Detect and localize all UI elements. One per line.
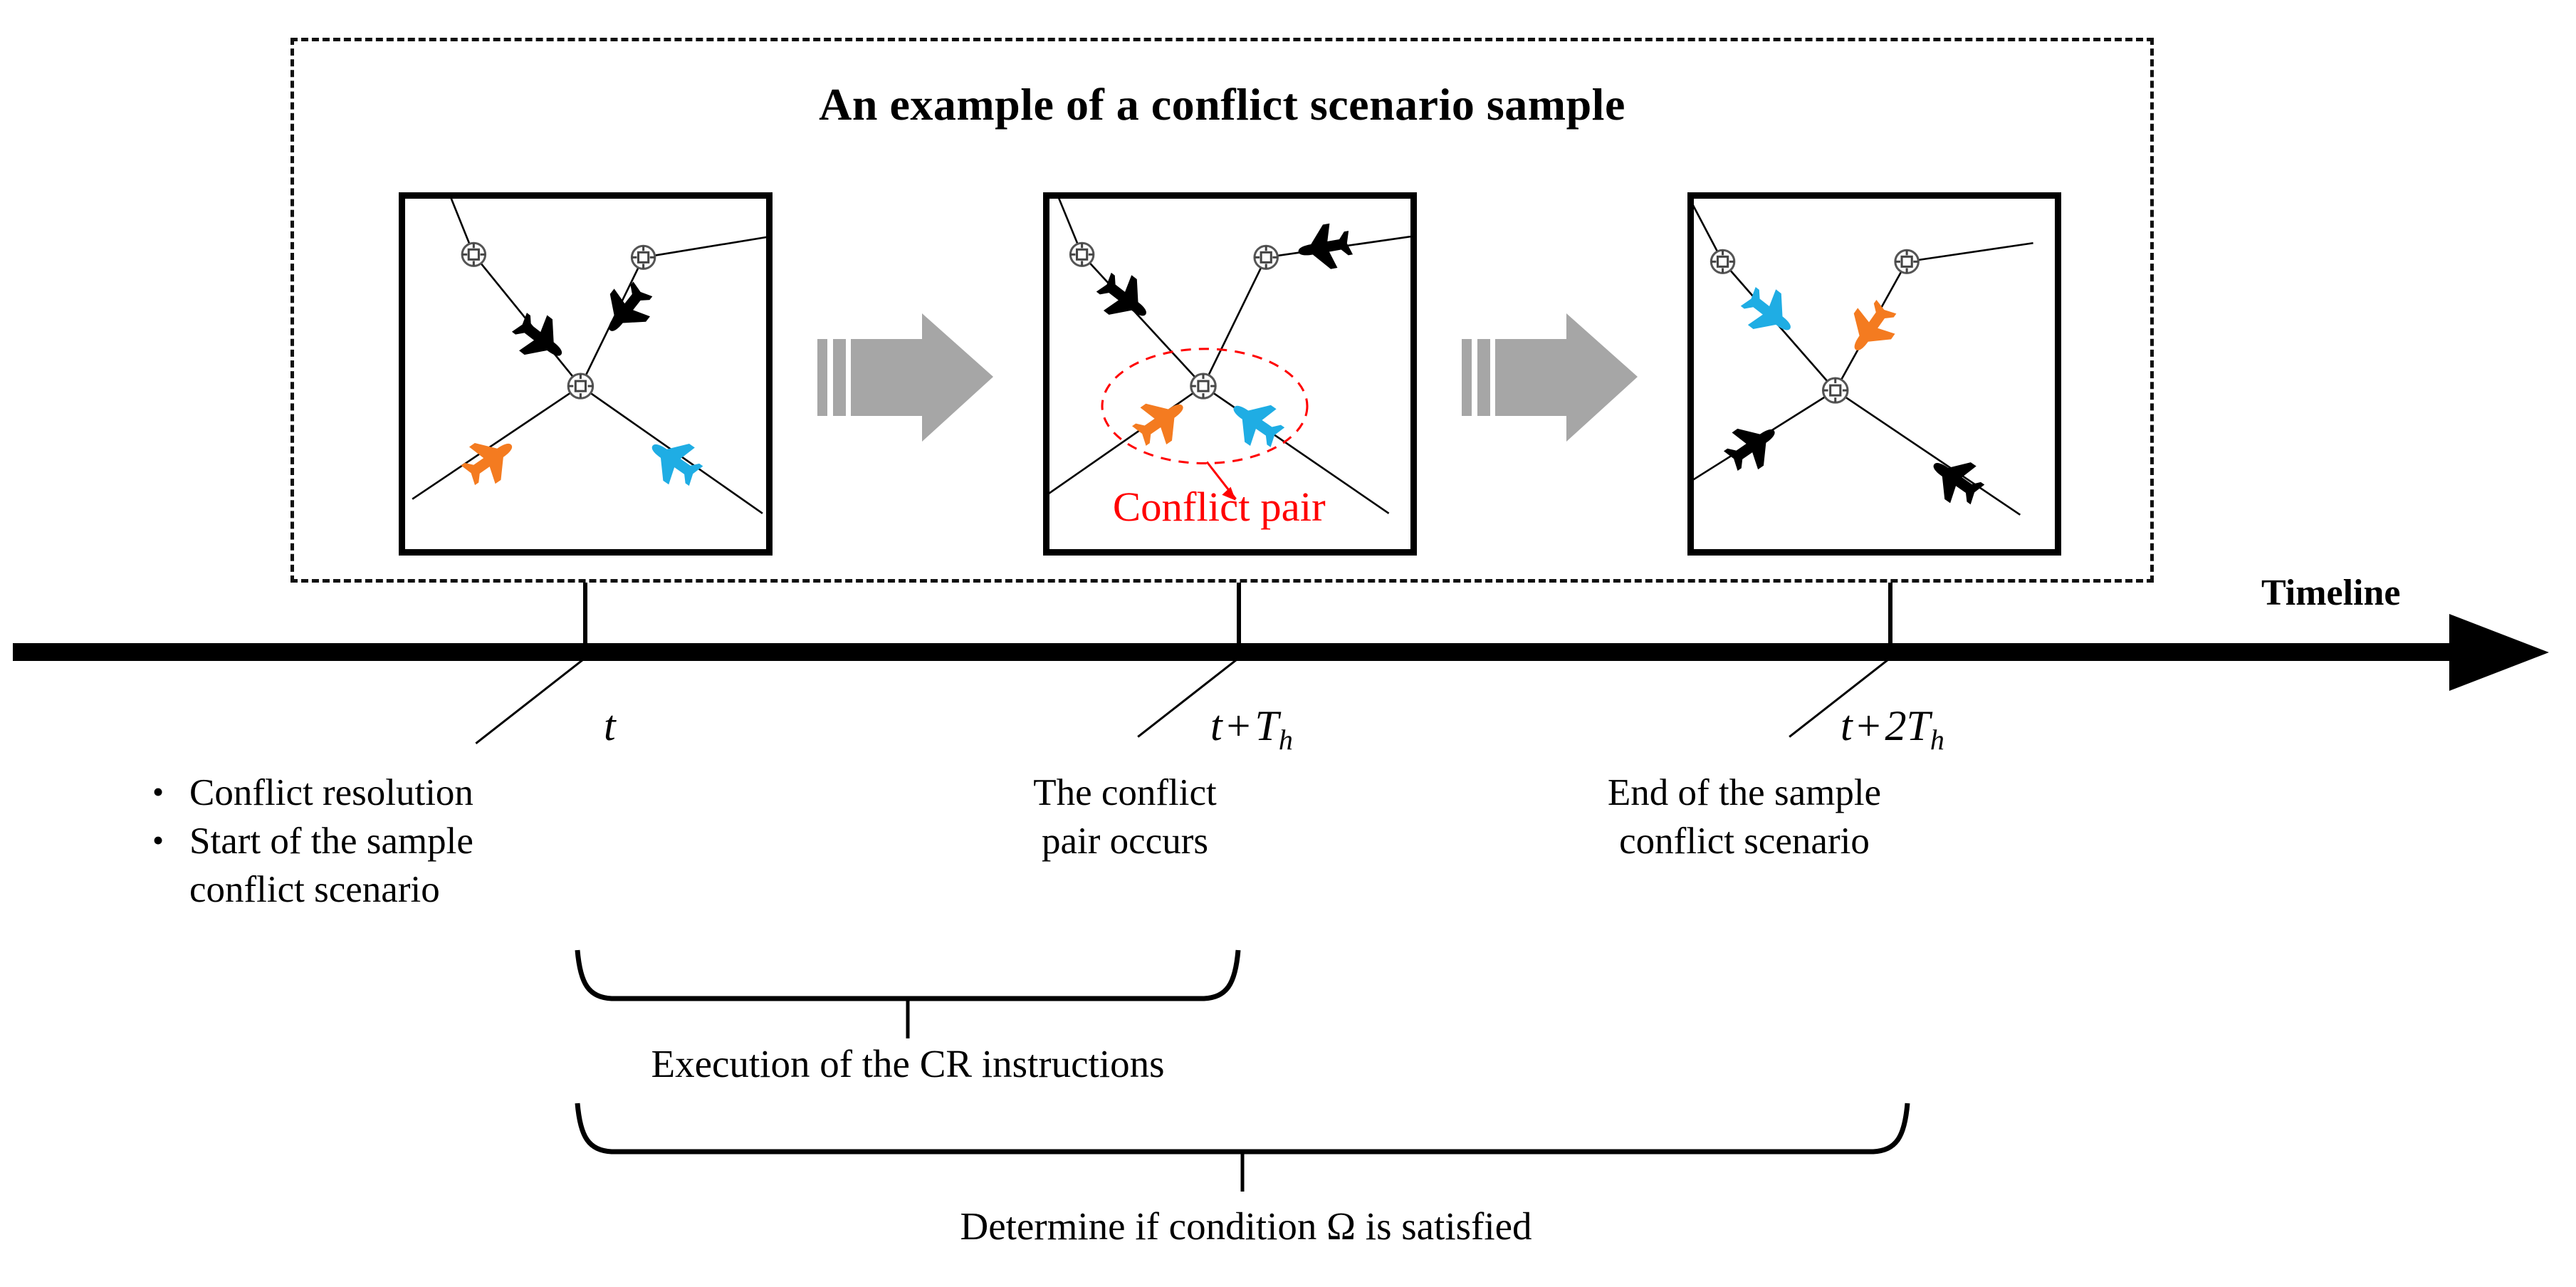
waypoint-marker-icon bbox=[1070, 243, 1277, 398]
tick-label-t: t bbox=[604, 702, 616, 751]
annotation-line: conflict scenario bbox=[1509, 818, 1979, 866]
tick3-operator: + bbox=[1853, 702, 1885, 749]
list-item: • Conflict resolution bbox=[142, 769, 641, 818]
timeline-tick-t bbox=[583, 583, 587, 647]
bullet-icon: • bbox=[152, 771, 164, 813]
annotation-at-t: • Conflict resolution • Start of the sam… bbox=[142, 769, 641, 914]
tick2-symbol: T bbox=[1255, 702, 1279, 749]
panel-end-map bbox=[1694, 199, 2055, 549]
route-network bbox=[1694, 199, 2033, 515]
tick-label-t-plus-th: t+Th bbox=[1210, 702, 1293, 756]
timeline-tick-t-plus-th bbox=[1237, 583, 1241, 647]
timeline-tick-t-plus-2th bbox=[1888, 583, 1892, 647]
timeline-axis bbox=[13, 643, 2483, 661]
brace-cr-execution bbox=[573, 947, 1242, 1040]
brace-condition-omega bbox=[573, 1100, 1912, 1193]
tick2-base: t bbox=[1210, 702, 1222, 749]
annotation-line: pair occurs bbox=[926, 818, 1324, 866]
bullet-icon: • bbox=[152, 820, 164, 862]
aircraft-icon bbox=[1717, 278, 1990, 513]
leader-line-t bbox=[475, 660, 583, 744]
annotation-line: End of the sample bbox=[1509, 769, 1979, 818]
caption-cr-execution: Execution of the CR instructions bbox=[552, 1041, 1264, 1086]
scenario-panel-start bbox=[399, 192, 773, 556]
panel-conflict-map: Conflict pair bbox=[1049, 199, 1410, 549]
bullet-text: Conflict resolution bbox=[189, 769, 641, 818]
tick2-operator: + bbox=[1222, 702, 1255, 749]
conflict-pair-label: Conflict pair bbox=[1113, 484, 1326, 530]
conflict-ellipse-icon bbox=[1102, 349, 1307, 464]
scenario-title: An example of a conflict scenario sample bbox=[290, 78, 2154, 131]
bullet-text: conflict scenario bbox=[189, 866, 641, 915]
timeline-arrowhead-icon bbox=[2449, 614, 2549, 691]
tick3-subscript: h bbox=[1930, 724, 1944, 756]
annotation-bullet-list: • Conflict resolution • Start of the sam… bbox=[142, 769, 641, 914]
tick-label-t-plus-2th: t+2Th bbox=[1841, 702, 1944, 756]
tick2-subscript: h bbox=[1279, 724, 1293, 756]
annotation-line: The conflict bbox=[926, 769, 1324, 818]
waypoint-marker-icon bbox=[1711, 250, 1918, 402]
panel-start-map bbox=[405, 199, 766, 549]
bullet-text: Start of the sample bbox=[189, 818, 641, 866]
list-item: • Start of the sample conflict scenario bbox=[142, 818, 641, 915]
caption-condition-omega: Determine if condition Ω is satisfied bbox=[748, 1204, 1744, 1249]
conflict-scenario-timeline-figure: An example of a conflict scenario sample bbox=[0, 0, 2576, 1287]
tick3-base: t bbox=[1841, 702, 1853, 749]
annotation-at-t-plus-th: The conflict pair occurs bbox=[926, 769, 1324, 866]
transition-arrow-icon bbox=[812, 313, 1025, 442]
transition-arrow-icon bbox=[1456, 313, 1670, 442]
tick-label-t-base: t bbox=[604, 702, 616, 749]
scenario-panel-end bbox=[1687, 192, 2061, 556]
tick3-symbol: T bbox=[1907, 702, 1930, 749]
tick3-coefficient: 2 bbox=[1885, 702, 1907, 749]
scenario-panel-conflict: Conflict pair bbox=[1043, 192, 1417, 556]
route-network bbox=[1049, 199, 1410, 514]
annotation-at-t-plus-2th: End of the sample conflict scenario bbox=[1509, 769, 1979, 866]
timeline-label: Timeline bbox=[2261, 572, 2400, 614]
aircraft-icon bbox=[1090, 221, 1355, 456]
